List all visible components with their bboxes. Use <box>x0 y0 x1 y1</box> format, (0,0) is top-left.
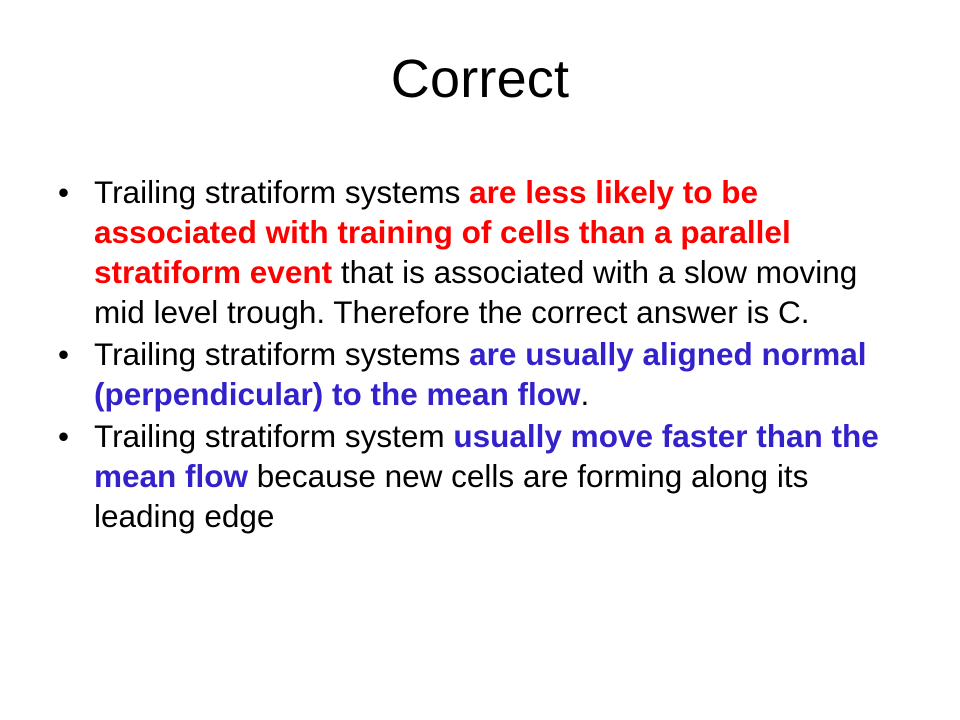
text-segment-plain: Trailing stratiform systems <box>94 174 469 210</box>
text-segment-plain: Trailing stratiform systems <box>94 336 469 372</box>
text-segment-plain: . <box>581 376 590 412</box>
list-item: •Trailing stratiform system usually move… <box>52 416 910 536</box>
presentation-slide: Correct •Trailing stratiform systems are… <box>0 0 960 720</box>
list-item: •Trailing stratiform systems are less li… <box>52 172 910 332</box>
bullet-list: •Trailing stratiform systems are less li… <box>52 172 910 538</box>
bullet-point-icon: • <box>58 416 82 456</box>
bullet-point-icon: • <box>58 172 82 212</box>
page-title: Correct <box>0 48 960 110</box>
list-item: •Trailing stratiform systems are usually… <box>52 334 910 414</box>
text-segment-plain: Trailing stratiform system <box>94 418 453 454</box>
bullet-point-icon: • <box>58 334 82 374</box>
